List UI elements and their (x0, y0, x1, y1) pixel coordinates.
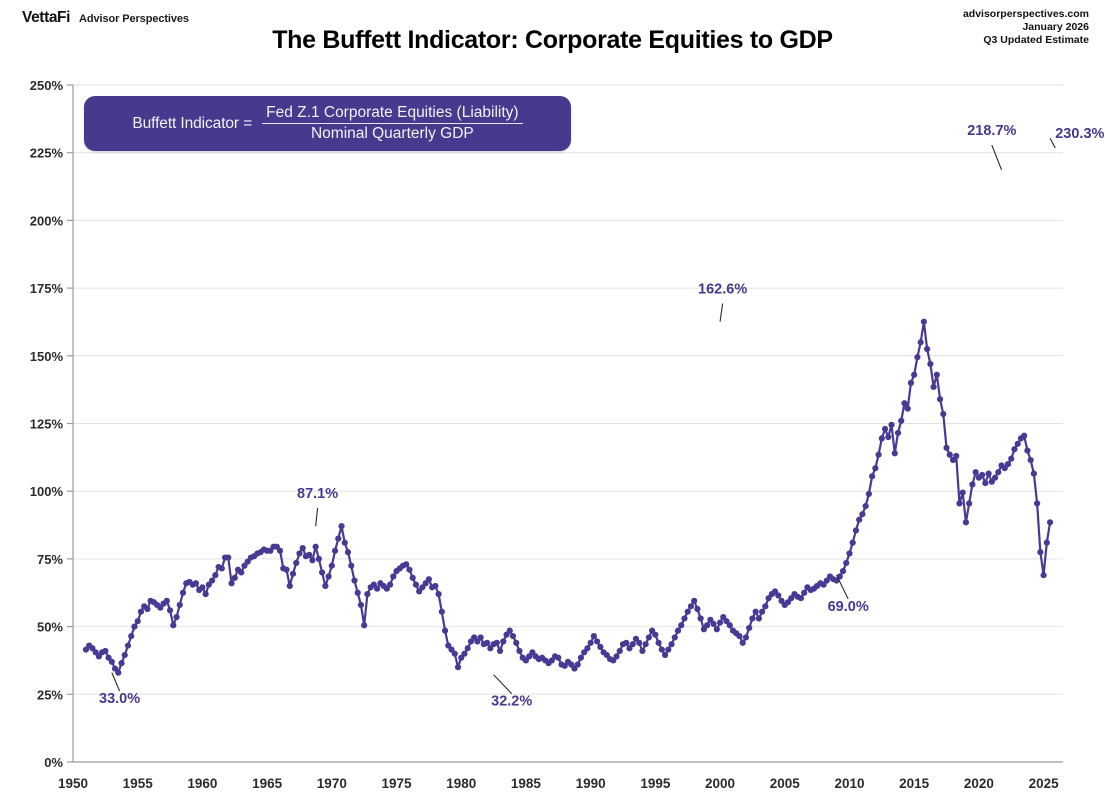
data-annotation-label: 69.0% (828, 599, 869, 615)
data-annotation-label: 218.7% (967, 123, 1016, 139)
data-point-marker (578, 655, 584, 661)
data-point-marker (358, 602, 364, 608)
data-point-marker (1015, 441, 1021, 447)
data-point-marker (969, 481, 975, 487)
data-point-marker (118, 660, 124, 666)
data-point-marker (225, 554, 231, 560)
y-axis-tick-labels: 0%25%50%75%100%125%150%175%200%225%250% (30, 78, 73, 770)
data-point-marker (895, 430, 901, 436)
formula-numerator: Fed Z.1 Corporate Equities (Liability) (262, 104, 522, 124)
data-point-marker (507, 628, 513, 634)
data-point-marker (691, 598, 697, 604)
data-point-marker (1040, 572, 1046, 578)
data-point-marker (238, 569, 244, 575)
x-axis-tick-label: 2005 (770, 776, 801, 791)
data-point-marker (439, 609, 445, 615)
x-axis-tick-label: 1965 (252, 776, 283, 791)
data-point-marker (930, 384, 936, 390)
data-point-marker (510, 633, 516, 639)
annotation-leaders (112, 138, 1055, 693)
data-point-marker (675, 628, 681, 634)
data-point-marker (846, 550, 852, 556)
data-point-marker (740, 640, 746, 646)
data-point-marker (843, 560, 849, 566)
formula-callout-box: Buffett Indicator = Fed Z.1 Corporate Eq… (84, 96, 571, 151)
data-annotation-label: 32.2% (491, 694, 532, 710)
data-point-marker (646, 634, 652, 640)
data-point-marker (432, 583, 438, 589)
data-point-marker (374, 586, 380, 592)
data-point-marker (947, 452, 953, 458)
data-point-marker (296, 550, 302, 556)
y-axis-tick-label: 100% (30, 484, 64, 499)
data-point-marker (678, 622, 684, 628)
data-point-marker (985, 471, 991, 477)
data-point-marker (613, 653, 619, 659)
data-point-marker (290, 571, 296, 577)
gridlines-group (73, 85, 1063, 694)
data-point-marker (746, 625, 752, 631)
data-point-marker (332, 548, 338, 554)
data-point-marker (452, 651, 458, 657)
data-point-marker (885, 434, 891, 440)
data-point-marker (1037, 549, 1043, 555)
data-point-marker (698, 615, 704, 621)
data-point-marker (338, 523, 344, 529)
data-point-marker (927, 361, 933, 367)
data-point-marker (710, 621, 716, 627)
data-point-marker (672, 634, 678, 640)
data-point-marker (484, 640, 490, 646)
data-point-marker (1047, 519, 1053, 525)
y-axis-tick-label: 25% (37, 687, 63, 702)
data-point-marker (662, 652, 668, 658)
data-point-marker (911, 372, 917, 378)
data-point-marker (1044, 540, 1050, 546)
data-point-marker (1021, 433, 1027, 439)
data-point-marker (144, 606, 150, 612)
annotation-leader-line (494, 675, 512, 694)
data-point-marker (342, 540, 348, 546)
annotation-leader-line (316, 508, 318, 526)
data-point-marker (1031, 471, 1037, 477)
data-point-marker (435, 591, 441, 597)
data-annotation-label: 87.1% (297, 486, 338, 502)
data-point-marker (387, 582, 393, 588)
data-point-marker (209, 577, 215, 583)
data-point-marker (465, 645, 471, 651)
data-point-marker (283, 567, 289, 573)
data-point-marker (901, 400, 907, 406)
data-point-marker (665, 647, 671, 653)
data-point-marker (688, 603, 694, 609)
x-axis-tick-label: 2025 (1029, 776, 1060, 791)
data-point-marker (170, 622, 176, 628)
data-point-marker (591, 633, 597, 639)
series-markers (83, 319, 1053, 676)
data-point-marker (749, 615, 755, 621)
data-point-marker (743, 634, 749, 640)
data-point-marker (973, 469, 979, 475)
data-point-marker (390, 573, 396, 579)
data-point-marker (177, 602, 183, 608)
data-point-marker (966, 500, 972, 506)
data-point-marker (668, 641, 674, 647)
data-point-marker (1005, 461, 1011, 467)
data-point-marker (413, 582, 419, 588)
data-point-marker (313, 544, 319, 550)
data-point-marker (630, 641, 636, 647)
data-point-marker (461, 651, 467, 657)
data-point-marker (555, 655, 561, 661)
data-point-marker (892, 450, 898, 456)
data-point-marker (853, 527, 859, 533)
data-point-marker (329, 563, 335, 569)
y-axis-tick-label: 250% (30, 78, 64, 93)
data-point-marker (1034, 500, 1040, 506)
data-point-marker (982, 480, 988, 486)
data-point-marker (888, 422, 894, 428)
data-point-marker (426, 576, 432, 582)
data-point-marker (918, 339, 924, 345)
data-point-marker (727, 622, 733, 628)
series-line (86, 322, 1050, 673)
data-point-marker (364, 591, 370, 597)
data-point-marker (866, 491, 872, 497)
data-point-marker (167, 607, 173, 613)
y-axis-tick-label: 225% (30, 146, 64, 161)
y-axis-tick-label: 175% (30, 281, 64, 296)
data-point-marker (859, 511, 865, 517)
data-point-marker (309, 557, 315, 563)
x-axis-tick-label: 2000 (705, 776, 735, 791)
data-point-marker (316, 556, 322, 562)
data-point-marker (125, 642, 131, 648)
data-point-marker (617, 648, 623, 654)
data-point-marker (655, 640, 661, 646)
annotation-labels: 33.0%87.1%32.2%162.6%69.0%218.7%230.3% (99, 123, 1104, 710)
data-point-marker (131, 624, 137, 630)
data-point-marker (798, 595, 804, 601)
formula-fraction: Fed Z.1 Corporate Equities (Liability) N… (262, 104, 522, 144)
data-point-marker (898, 418, 904, 424)
data-point-marker (908, 380, 914, 386)
data-point-marker (122, 652, 128, 658)
data-point-marker (403, 561, 409, 567)
data-point-marker (410, 575, 416, 581)
x-axis-tick-label: 1985 (511, 776, 542, 791)
data-point-marker (992, 475, 998, 481)
data-point-marker (293, 560, 299, 566)
data-point-marker (516, 648, 522, 654)
x-axis-tick-labels: 1950195519601965197019751980198519901995… (58, 776, 1059, 791)
data-point-marker (652, 632, 658, 638)
data-point-marker (953, 453, 959, 459)
data-point-marker (497, 648, 503, 654)
data-point-marker (960, 489, 966, 495)
formula-left-side: Buffett Indicator = (132, 115, 252, 133)
y-axis-tick-label: 50% (37, 620, 63, 635)
data-point-marker (355, 590, 361, 596)
data-point-marker (361, 622, 367, 628)
data-point-marker (1008, 456, 1014, 462)
data-point-marker (348, 563, 354, 569)
data-point-marker (203, 591, 209, 597)
data-point-marker (102, 648, 108, 654)
data-point-marker (597, 644, 603, 650)
data-point-marker (1011, 446, 1017, 452)
data-point-marker (879, 435, 885, 441)
data-point-marker (850, 540, 856, 546)
data-point-marker (934, 372, 940, 378)
data-annotation-label: 162.6% (698, 282, 747, 298)
x-axis-tick-label: 1955 (123, 776, 154, 791)
x-axis-tick-label: 2010 (834, 776, 864, 791)
x-axis-tick-label: 1960 (187, 776, 217, 791)
x-axis-tick-label: 1980 (446, 776, 476, 791)
data-point-marker (335, 535, 341, 541)
x-axis-tick-label: 1970 (317, 776, 347, 791)
data-point-marker (736, 633, 742, 639)
data-point-marker (717, 619, 723, 625)
data-point-marker (937, 396, 943, 402)
series-polyline (86, 322, 1050, 673)
y-axis-tick-label: 0% (44, 755, 63, 770)
data-point-marker (905, 406, 911, 412)
data-point-marker (513, 640, 519, 646)
data-point-marker (325, 573, 331, 579)
data-point-marker (138, 609, 144, 615)
data-point-marker (109, 659, 115, 665)
y-axis-tick-label: 150% (30, 349, 64, 364)
data-point-marker (300, 545, 306, 551)
data-point-marker (128, 633, 134, 639)
data-point-marker (351, 577, 357, 583)
data-point-marker (442, 628, 448, 634)
data-point-marker (979, 472, 985, 478)
y-axis-tick-label: 125% (30, 417, 64, 432)
data-point-marker (639, 648, 645, 654)
data-point-marker (212, 572, 218, 578)
data-point-marker (882, 426, 888, 432)
data-point-marker (594, 638, 600, 644)
x-axis-tick-label: 1975 (382, 776, 413, 791)
data-point-marker (963, 519, 969, 525)
data-point-marker (775, 592, 781, 598)
x-axis-tick-label: 2015 (899, 776, 930, 791)
annotation-leader-line (992, 145, 1002, 170)
data-point-marker (322, 583, 328, 589)
data-point-marker (940, 411, 946, 417)
data-point-marker (406, 567, 412, 573)
data-annotation-label: 230.3% (1055, 126, 1104, 142)
data-point-marker (869, 473, 875, 479)
data-point-marker (643, 641, 649, 647)
data-point-marker (681, 615, 687, 621)
data-point-marker (575, 661, 581, 667)
data-point-marker (636, 640, 642, 646)
data-point-marker (164, 598, 170, 604)
data-point-marker (1028, 457, 1034, 463)
data-point-marker (801, 590, 807, 596)
y-axis-tick-label: 200% (30, 213, 64, 228)
data-point-marker (659, 647, 665, 653)
data-point-marker (228, 580, 234, 586)
data-point-marker (840, 568, 846, 574)
data-point-marker (115, 670, 121, 676)
annotation-leader-line (837, 575, 849, 599)
data-point-marker (219, 565, 225, 571)
data-point-marker (753, 609, 759, 615)
data-point-marker (319, 569, 325, 575)
data-point-marker (584, 645, 590, 651)
data-annotation-label: 33.0% (99, 691, 140, 707)
x-axis-tick-label: 1990 (576, 776, 606, 791)
data-point-marker (921, 319, 927, 325)
data-point-marker (762, 603, 768, 609)
data-point-marker (478, 634, 484, 640)
data-point-marker (306, 552, 312, 558)
data-point-marker (232, 575, 238, 581)
data-point-marker (193, 580, 199, 586)
data-point-marker (500, 638, 506, 644)
data-point-marker (914, 354, 920, 360)
data-point-marker (995, 469, 1001, 475)
data-point-marker (494, 640, 500, 646)
data-point-marker (135, 618, 141, 624)
data-point-marker (863, 503, 869, 509)
data-point-marker (588, 640, 594, 646)
data-point-marker (623, 640, 629, 646)
x-axis-tick-label: 2020 (964, 776, 994, 791)
data-point-marker (694, 606, 700, 612)
x-axis-tick-label: 1950 (58, 776, 88, 791)
x-axis-tick-label: 1995 (640, 776, 671, 791)
data-point-marker (173, 614, 179, 620)
annotation-leader-line (720, 304, 723, 322)
data-point-marker (756, 615, 762, 621)
data-point-marker (685, 609, 691, 615)
data-point-marker (199, 584, 205, 590)
data-point-marker (714, 626, 720, 632)
formula-denominator: Nominal Quarterly GDP (311, 124, 474, 143)
data-point-marker (872, 465, 878, 471)
data-point-marker (1024, 447, 1030, 453)
data-point-marker (180, 590, 186, 596)
data-point-marker (277, 548, 283, 554)
data-point-marker (345, 549, 351, 555)
data-point-marker (956, 500, 962, 506)
data-point-marker (704, 622, 710, 628)
data-point-marker (943, 445, 949, 451)
data-point-marker (287, 583, 293, 589)
data-point-marker (856, 517, 862, 523)
data-point-marker (924, 346, 930, 352)
y-axis-tick-label: 75% (37, 552, 63, 567)
data-point-marker (875, 452, 881, 458)
data-point-marker (759, 609, 765, 615)
data-point-marker (455, 664, 461, 670)
